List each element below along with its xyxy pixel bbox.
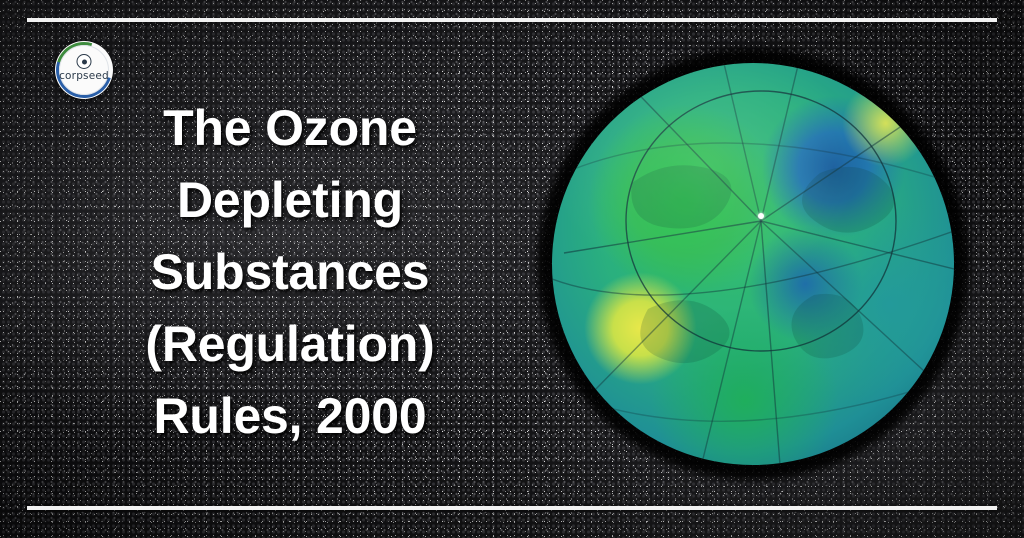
title-line-4: (Regulation)	[140, 308, 440, 380]
title-line-3: Substances	[140, 236, 440, 308]
globe-sphere	[552, 63, 954, 465]
page-title: The Ozone Depleting Substances (Regulati…	[140, 92, 440, 452]
title-line-5: Rules, 2000	[140, 380, 440, 452]
logo-seed-emblem-icon	[77, 54, 92, 69]
corpseed-logo[interactable]: corpseed	[55, 41, 113, 99]
title-line-2: Depleting	[140, 164, 440, 236]
title-line-1: The Ozone	[140, 92, 440, 164]
horizontal-rule-bottom	[27, 506, 997, 510]
north-pole-dot	[758, 213, 764, 219]
poster-banner: corpseed The Ozone Depleting Substances …	[0, 0, 1024, 538]
horizontal-rule-top	[27, 18, 997, 22]
globe-limb-darkening	[552, 63, 954, 465]
logo-wordmark: corpseed	[55, 70, 113, 82]
ozone-globe	[547, 58, 959, 470]
